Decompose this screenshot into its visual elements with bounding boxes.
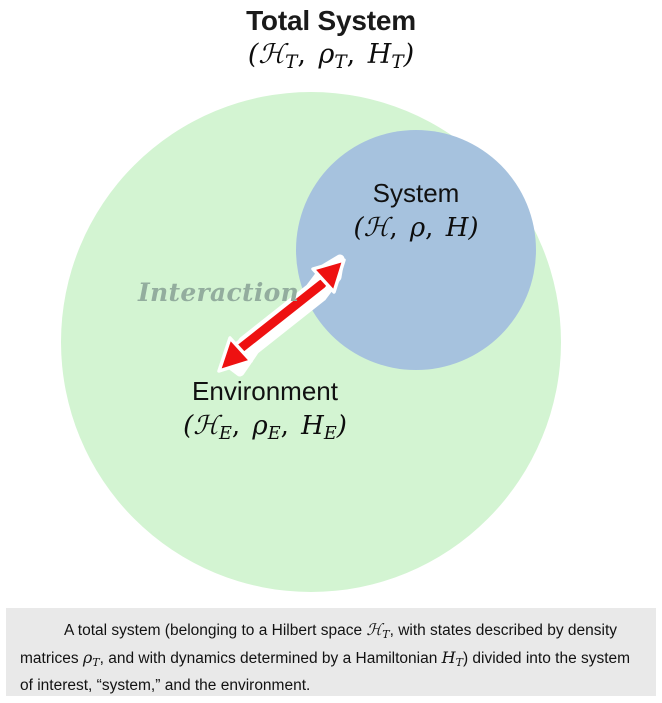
hamiltonian-symbol: H bbox=[442, 648, 456, 667]
page-title: Total System bbox=[0, 4, 662, 37]
paren-open: ( bbox=[353, 213, 363, 243]
paren-open: ( bbox=[248, 39, 259, 70]
figure-area: Total System (ℋT, ρT, HT) Interaction Sy… bbox=[0, 0, 662, 600]
density-matrix-symbol: ρ bbox=[83, 648, 92, 667]
system-label-block: System (ℋ, ρ, H) bbox=[296, 177, 536, 247]
hamiltonian-symbol: H bbox=[301, 411, 324, 441]
environment-math-label: (ℋE, ρE, HE) bbox=[110, 407, 420, 453]
hamiltonian-subscript: E bbox=[324, 424, 337, 444]
caption-part-1: A total system (belonging to a Hilbert s… bbox=[64, 622, 366, 639]
system-circle bbox=[296, 130, 536, 370]
hilbert-space-symbol: ℋ bbox=[366, 620, 382, 639]
hilbert-space-subscript: T bbox=[285, 52, 297, 73]
hilbert-space-subscript: T bbox=[382, 628, 389, 641]
caption-box: A total system (belonging to a Hilbert s… bbox=[6, 608, 656, 696]
math-separator-1: , bbox=[389, 213, 410, 243]
math-separator-2: , bbox=[347, 39, 368, 70]
paren-close: ) bbox=[468, 213, 478, 243]
hilbert-space-symbol: ℋ bbox=[193, 411, 219, 441]
math-separator-1: , bbox=[297, 39, 318, 70]
density-matrix-symbol: ρ bbox=[319, 39, 335, 70]
hamiltonian-symbol: H bbox=[368, 39, 392, 70]
hamiltonian-subscript: T bbox=[456, 656, 463, 669]
hilbert-space-symbol: ℋ bbox=[258, 39, 285, 70]
math-separator-1: , bbox=[232, 411, 253, 441]
density-matrix-symbol: ρ bbox=[410, 213, 425, 243]
density-matrix-subscript: T bbox=[92, 656, 99, 669]
hilbert-space-subscript: E bbox=[219, 424, 232, 444]
total-system-title-block: Total System (ℋT, ρT, HT) bbox=[0, 4, 662, 81]
total-system-math-label: (ℋT, ρT, HT) bbox=[0, 37, 662, 81]
paren-open: ( bbox=[183, 411, 193, 441]
math-separator-2: , bbox=[281, 411, 302, 441]
interaction-label: Interaction bbox=[138, 278, 299, 307]
math-separator-2: , bbox=[425, 213, 446, 243]
caption-part-3: , and with dynamics determined by a Hami… bbox=[100, 650, 442, 667]
caption-text: A total system (belonging to a Hilbert s… bbox=[20, 618, 642, 697]
hamiltonian-subscript: T bbox=[391, 52, 403, 73]
environment-label-block: Environment (ℋE, ρE, HE) bbox=[110, 375, 420, 453]
density-matrix-symbol: ρ bbox=[252, 411, 267, 441]
system-math-label: (ℋ, ρ, H) bbox=[296, 209, 536, 247]
density-matrix-subscript: T bbox=[334, 52, 346, 73]
density-matrix-subscript: E bbox=[268, 424, 281, 444]
paren-close: ) bbox=[337, 411, 347, 441]
environment-label: Environment bbox=[110, 375, 420, 407]
hamiltonian-symbol: H bbox=[446, 213, 469, 243]
system-label: System bbox=[296, 177, 536, 209]
hilbert-space-symbol: ℋ bbox=[364, 213, 390, 243]
paren-close: ) bbox=[404, 39, 415, 70]
